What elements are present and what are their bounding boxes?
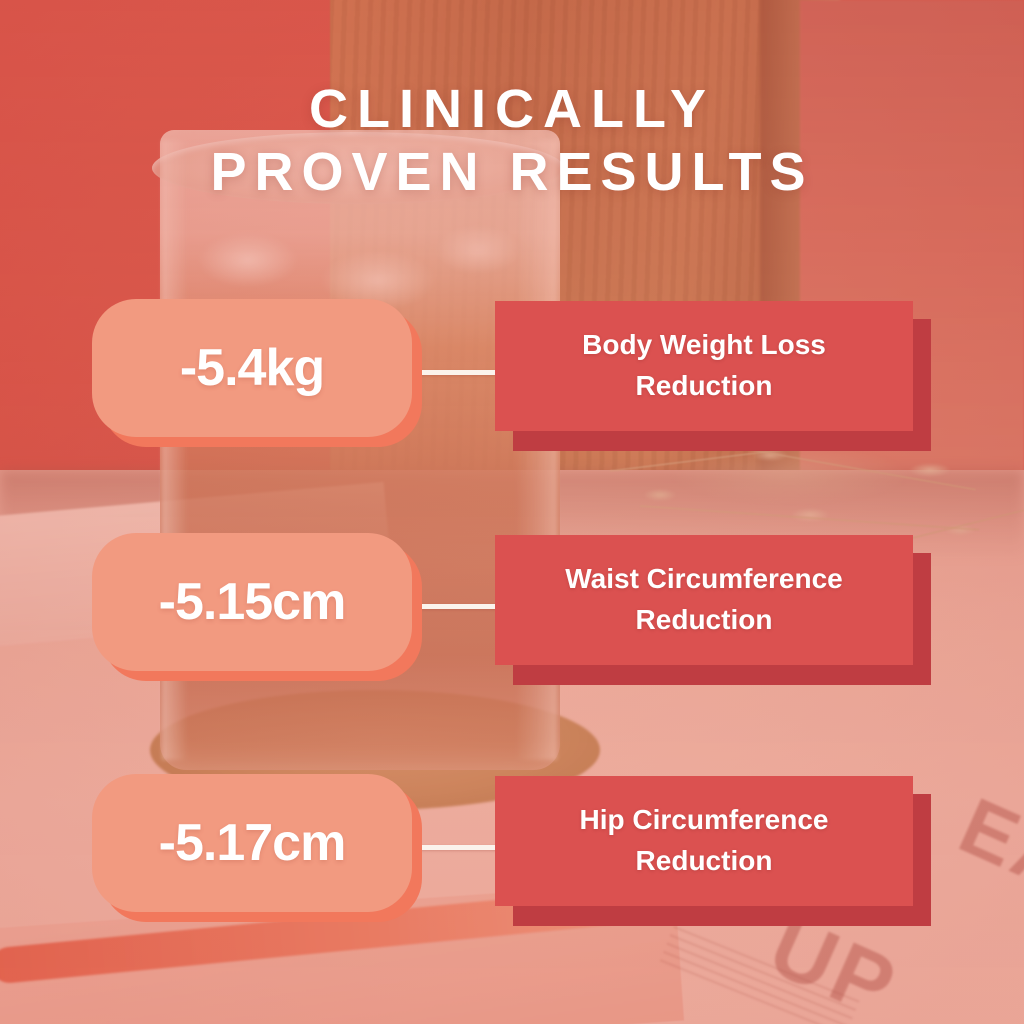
- connector-line: [414, 370, 500, 375]
- result-value-badge: -5.4kg: [92, 299, 422, 445]
- result-row: -5.15cm Waist Circumference Reduction: [0, 525, 1024, 685]
- badge-surface: -5.17cm: [92, 774, 412, 912]
- result-value: -5.17cm: [159, 813, 346, 873]
- result-label-line-2: Reduction: [636, 370, 773, 401]
- result-value-badge: -5.17cm: [92, 774, 422, 920]
- result-label-box: Waist Circumference Reduction: [495, 535, 935, 685]
- connector-line: [414, 845, 500, 850]
- badge-surface: -5.4kg: [92, 299, 412, 437]
- title-line-1: CLINICALLY: [309, 79, 715, 139]
- label-box-surface: Body Weight Loss Reduction: [495, 301, 913, 431]
- result-label-line-1: Hip Circumference: [580, 804, 829, 835]
- result-value: -5.4kg: [180, 338, 324, 398]
- result-label-line-1: Body Weight Loss: [582, 329, 826, 360]
- result-label-box: Body Weight Loss Reduction: [495, 301, 935, 451]
- result-label-line-1: Waist Circumference: [565, 563, 843, 594]
- label-box-surface: Waist Circumference Reduction: [495, 535, 913, 665]
- result-value-badge: -5.15cm: [92, 533, 422, 679]
- label-box-surface: Hip Circumference Reduction: [495, 776, 913, 906]
- result-label-box: Hip Circumference Reduction: [495, 776, 935, 926]
- result-label-line-2: Reduction: [636, 845, 773, 876]
- result-label: Hip Circumference Reduction: [566, 800, 843, 881]
- connector-line: [414, 604, 500, 609]
- result-label: Body Weight Loss Reduction: [568, 325, 840, 406]
- result-value: -5.15cm: [159, 572, 346, 632]
- result-row: -5.17cm Hip Circumference Reduction: [0, 766, 1024, 926]
- result-label-line-2: Reduction: [636, 604, 773, 635]
- result-row: -5.4kg Body Weight Loss Reduction: [0, 291, 1024, 451]
- result-label: Waist Circumference Reduction: [551, 559, 857, 640]
- badge-surface: -5.15cm: [92, 533, 412, 671]
- poster-content: CLINICALLY PROVEN RESULTS -5.4kg Body We…: [0, 0, 1024, 1024]
- title-line-2: PROVEN RESULTS: [0, 141, 1024, 204]
- page-title: CLINICALLY PROVEN RESULTS: [0, 78, 1024, 204]
